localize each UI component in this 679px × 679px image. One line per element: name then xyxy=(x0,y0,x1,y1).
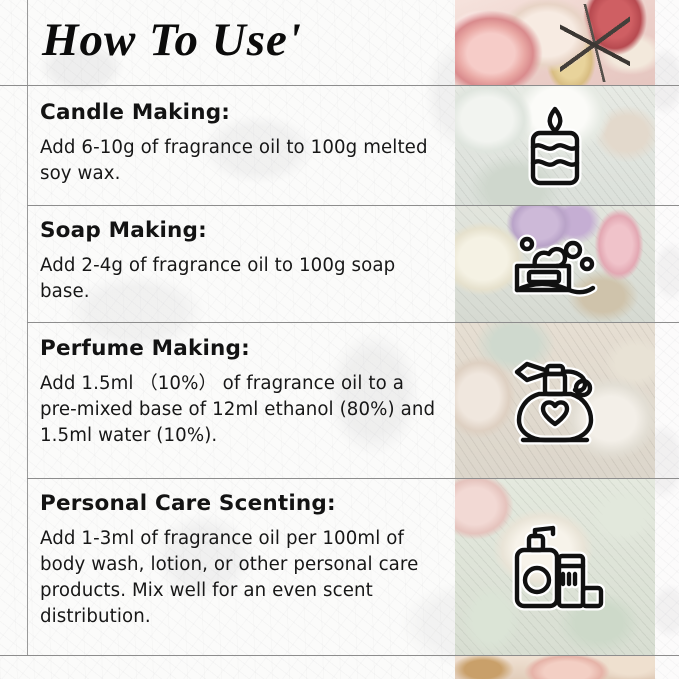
section-personal-care-scenting: Personal Care Scenting: Add 1-3ml of fra… xyxy=(40,491,440,629)
soap-icon-slot xyxy=(455,205,655,322)
page-title: How To Use' xyxy=(42,13,302,67)
divider-bottom xyxy=(0,655,679,656)
candle-icon-slot xyxy=(455,86,655,205)
divider-title xyxy=(0,85,679,86)
candle-icon xyxy=(513,99,597,193)
photo-column xyxy=(455,0,655,679)
perfume-atomizer-heart-icon xyxy=(503,352,607,448)
section-soap-making: Soap Making: Add 2-4g of fragrance oil t… xyxy=(40,218,440,305)
section-perfume-making: Perfume Making: Add 1.5ml （10%） of fragr… xyxy=(40,336,440,449)
section-body: Add 1-3ml of fragrance oil per 100ml of … xyxy=(40,526,440,629)
personal-care-icon-slot xyxy=(455,478,655,655)
perfume-icon-slot xyxy=(455,322,655,478)
section-body: Add 1.5ml （10%） of fragrance oil to a pr… xyxy=(40,371,440,449)
content-left-rule xyxy=(27,86,28,655)
section-heading: Personal Care Scenting: xyxy=(40,491,440,516)
how-to-use-infographic: How To Use' Candle Making: Add 6-10g of … xyxy=(0,0,679,679)
section-candle-making: Candle Making: Add 6-10g of fragrance oi… xyxy=(40,100,440,187)
divider-perfume xyxy=(27,478,679,479)
section-heading: Candle Making: xyxy=(40,100,440,125)
top-floral-photo-band xyxy=(455,0,655,86)
scissors-twig-decor xyxy=(560,4,630,82)
section-body: Add 6-10g of fragrance oil to 100g melte… xyxy=(40,135,440,187)
divider-soap xyxy=(27,322,679,323)
bottom-floral-photo-band xyxy=(455,655,655,679)
right-edge-watermark-strip xyxy=(655,0,679,679)
soap-bar-bubbles-icon xyxy=(507,222,603,306)
title-left-rule xyxy=(27,0,28,85)
personal-care-bottles-icon xyxy=(505,518,605,616)
divider-candle xyxy=(27,205,679,206)
section-body: Add 2-4g of fragrance oil to 100g soap b… xyxy=(40,253,440,305)
section-heading: Soap Making: xyxy=(40,218,440,243)
section-heading: Perfume Making: xyxy=(40,336,440,361)
